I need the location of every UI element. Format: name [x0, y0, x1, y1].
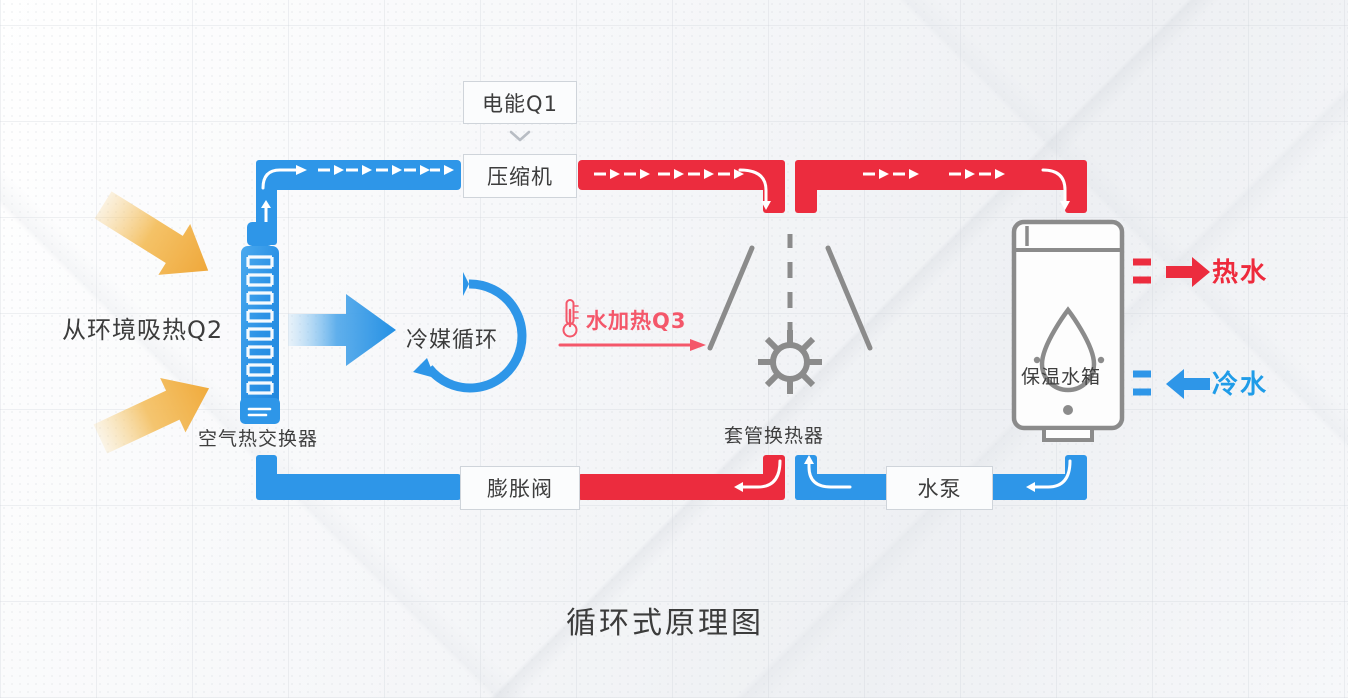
diagram-canvas: 水加热Q3 保温水箱 [0, 0, 1348, 698]
box-water-pump[interactable]: 水泵 [886, 466, 993, 510]
cold-water-arrow [1130, 362, 1222, 406]
cold-water-label: 冷水 [1212, 364, 1268, 401]
pipe-blue-bottom-left [256, 474, 461, 500]
box-electric-power[interactable]: 电能Q1 [463, 81, 577, 124]
air-heat-exchanger-icon [240, 245, 294, 417]
pipe-red-left-arrows [580, 160, 790, 220]
pipe-blue-right-arrow [990, 455, 1090, 505]
ambient-heat-label: 从环境吸热Q2 [62, 310, 223, 345]
water-heating-arrow [560, 338, 708, 352]
pipe-blue-mid-arrow [795, 455, 890, 505]
refrigerant-cycle-label: 冷媒循环 [406, 322, 498, 354]
casing-heat-exchanger-label: 套管换热器 [724, 421, 824, 448]
hot-water-arrow [1130, 250, 1222, 294]
refrigerant-flow-arrow [288, 292, 398, 368]
insulated-water-tank-label: 保温水箱 [1021, 362, 1101, 389]
casing-heat-exchanger-icon [700, 230, 880, 410]
air-heat-exchanger-label: 空气热交换器 [198, 424, 318, 451]
thermometer-icon [560, 298, 582, 340]
water-heating-label: 水加热Q3 [586, 305, 686, 335]
chevron-down-icon [508, 128, 532, 144]
box-water-pump-label: 水泵 [918, 473, 962, 503]
insulated-water-tank-icon [1008, 218, 1138, 440]
box-expansion-valve[interactable]: 膨胀阀 [460, 466, 580, 510]
pipe-red-bottom-arrow [700, 455, 795, 505]
hot-water-label: 热水 [1212, 252, 1268, 289]
exchanger-cap-bottom-mark [246, 404, 276, 420]
page-title: 循环式原理图 [566, 598, 764, 642]
pipe-red-right-arrows [797, 160, 1092, 220]
pipe-blue-top-arrows [258, 160, 463, 250]
exchanger-cap-top [247, 222, 273, 246]
box-compressor[interactable]: 压缩机 [463, 154, 577, 198]
box-electric-power-label: 电能Q1 [482, 88, 558, 118]
box-expansion-valve-label: 膨胀阀 [487, 473, 553, 503]
box-compressor-label: 压缩机 [487, 161, 553, 191]
